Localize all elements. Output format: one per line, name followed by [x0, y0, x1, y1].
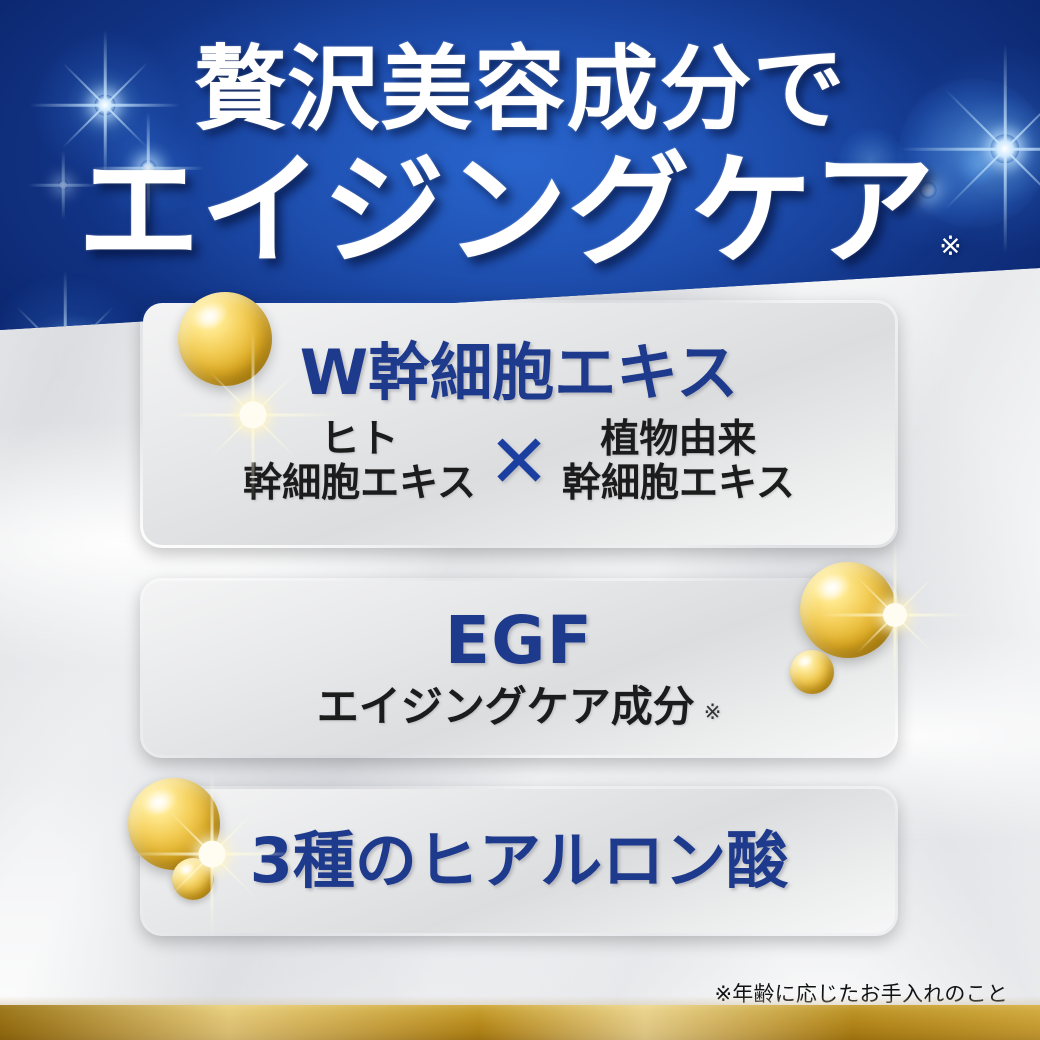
header-title-line1: 贅沢美容成分で — [0, 44, 1040, 136]
gold-droplet-small-icon — [790, 650, 834, 694]
ingredient-card-egf[interactable]: EGF エイジングケア成分 ※ — [140, 578, 898, 758]
card1-sub-left-line2: 幹細胞エキス — [243, 462, 476, 506]
header-title-group: 贅沢美容成分で エイジングケア ※ — [0, 0, 1040, 272]
header-asterisk-mark: ※ — [939, 233, 962, 260]
card1-sub-right-line2: 幹細胞エキス — [562, 462, 795, 506]
card2-asterisk-mark: ※ — [704, 702, 722, 723]
card1-sub-right: 植物由来 幹細胞エキス — [562, 418, 795, 507]
card2-subtitle: エイジングケア成分 ※ — [317, 686, 722, 728]
gold-droplet-icon — [128, 778, 220, 870]
card1-subtitle-row: ヒト 幹細胞エキス ✕ 植物由来 幹細胞エキス — [243, 418, 795, 507]
header-title-line2: エイジングケア ※ — [0, 150, 1040, 272]
header-title-line2-text: エイジングケア — [78, 150, 935, 272]
gold-droplet-small-icon — [172, 858, 214, 900]
poster-canvas: 贅沢美容成分で エイジングケア ※ W幹細胞エキス ヒト 幹細胞エキス ✕ 植物… — [0, 0, 1040, 1040]
card1-sub-right-line1: 植物由来 — [562, 418, 795, 462]
card2-title: EGF — [445, 608, 593, 674]
bottom-gold-bar — [0, 1005, 1040, 1040]
card1-sub-left: ヒト 幹細胞エキス — [243, 418, 476, 507]
cross-icon: ✕ — [486, 432, 552, 491]
card3-title: 3種のヒアルロン酸 — [250, 830, 789, 892]
gold-droplet-icon — [800, 562, 896, 658]
card1-sub-left-line1: ヒト — [243, 418, 476, 462]
ingredient-card-hyaluronic-acid[interactable]: 3種のヒアルロン酸 — [140, 786, 898, 936]
gold-droplet-icon — [178, 292, 272, 386]
card2-subtitle-text: エイジングケア成分 — [317, 686, 695, 728]
card1-title: W幹細胞エキス — [300, 342, 739, 404]
